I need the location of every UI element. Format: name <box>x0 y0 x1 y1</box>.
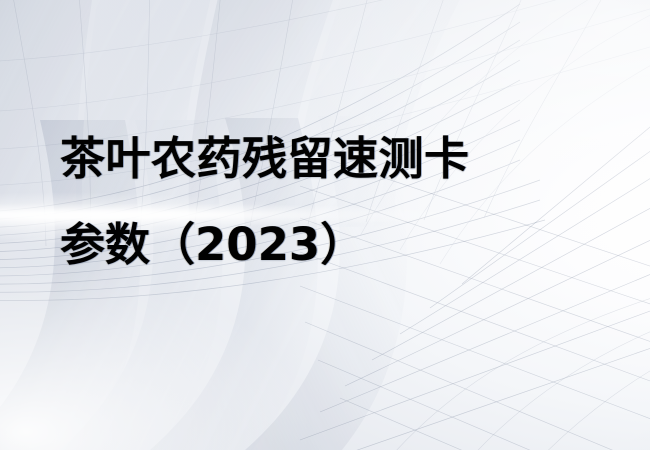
banner-title-line-1: 茶叶农药残留速测卡 <box>60 136 620 181</box>
banner-title-line-2: 参数（2023） <box>60 222 620 267</box>
product-title-banner: 茶叶农药残留速测卡 参数（2023） <box>0 0 650 450</box>
banner-title: 茶叶农药残留速测卡 参数（2023） <box>60 136 620 267</box>
